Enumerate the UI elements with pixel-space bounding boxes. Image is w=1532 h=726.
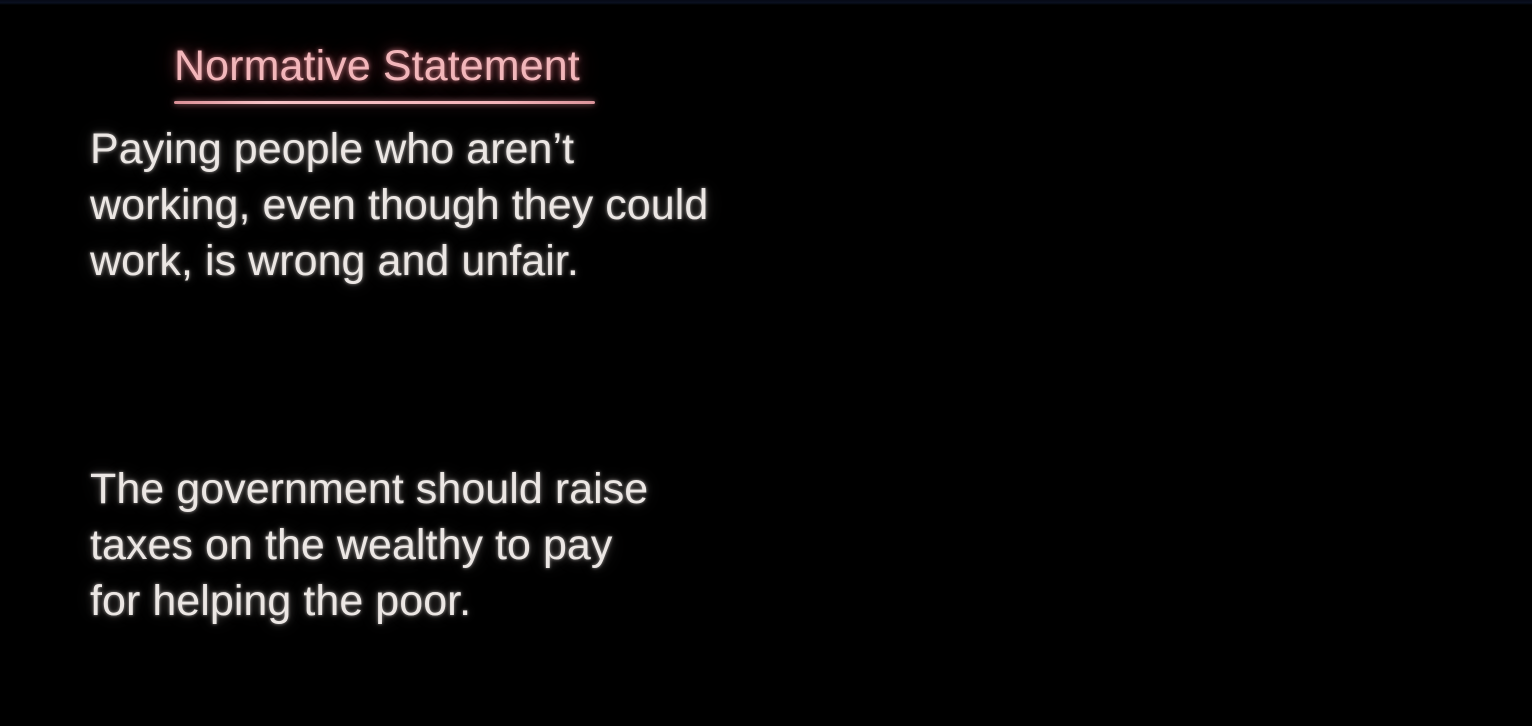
- normative-statement-2: The government should raise taxes on the…: [90, 461, 648, 629]
- column-positive: Positive Statement Programs like welfare…: [770, 0, 1532, 726]
- statement-line: for helping the poor.: [90, 573, 648, 629]
- heading-normative-label: Normative Statement: [174, 45, 580, 101]
- statement-line: taxes on the wealthy to pay: [90, 517, 648, 573]
- statement-line: The government should raise: [90, 461, 648, 517]
- column-normative: Normative Statement Paying people who ar…: [0, 0, 770, 726]
- statement-line: working, even though they could: [90, 177, 708, 233]
- two-column-layout: Normative Statement Paying people who ar…: [0, 0, 1532, 726]
- heading-normative-statement: Normative Statement: [174, 45, 595, 104]
- statement-line: work, is wrong and unfair.: [90, 233, 708, 289]
- normative-statement-1: Paying people who aren’t working, even t…: [90, 121, 708, 289]
- statement-line: Paying people who aren’t: [90, 121, 708, 177]
- slide-root: Normative Statement Paying people who ar…: [0, 0, 1532, 726]
- heading-normative-underline: [174, 101, 595, 104]
